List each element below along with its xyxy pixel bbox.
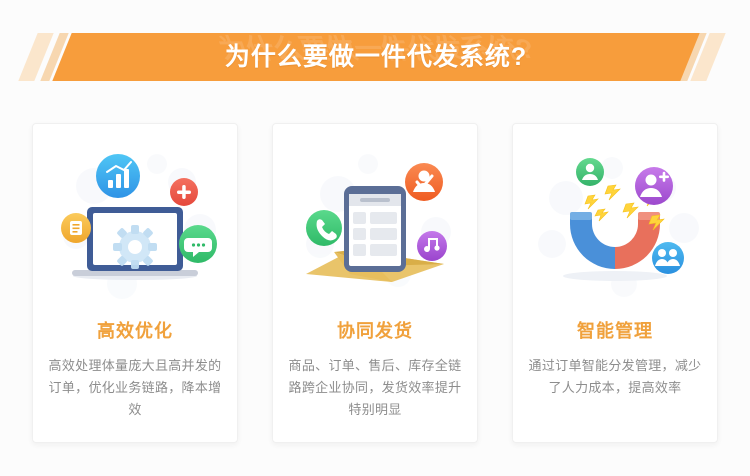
- banner-title: 为什么要做一件代发系统?: [225, 33, 527, 81]
- banner-parallelogram: 为什么要做一件代发系统? 为什么要做一件代发系统?: [52, 33, 699, 81]
- document-badge-icon: [61, 213, 91, 243]
- phone-call-badge-icon: [306, 210, 342, 246]
- user-badge-icon: [576, 158, 604, 186]
- user-group-badge-icon: [652, 242, 684, 274]
- card-description: 通过订单智能分发管理，减少了人力成本，提高效率: [525, 355, 705, 399]
- plus-badge-icon: [170, 178, 198, 206]
- card-description: 商品、订单、售后、库存全链路跨企业协同，发货效率提升特别明显: [285, 355, 465, 421]
- feature-card-collaboration[interactable]: 协同发货 商品、订单、售后、库存全链路跨企业协同，发货效率提升特别明显: [272, 123, 478, 443]
- music-note-badge-icon: [417, 231, 447, 261]
- phone-paperplane-illustration: [272, 124, 478, 309]
- magnet-users-illustration: [512, 124, 718, 309]
- feature-card-efficiency[interactable]: 高效优化 高效处理体量庞大且高并发的订单，优化业务链路，降本增效: [32, 123, 238, 443]
- card-description: 高效处理体量庞大且高并发的订单，优化业务链路，降本增效: [45, 355, 225, 421]
- card-title: 协同发货: [337, 317, 413, 343]
- feature-card-row: 高效优化 高效处理体量庞大且高并发的订单，优化业务链路，降本增效: [32, 123, 718, 443]
- chat-bubble-badge-icon: [179, 225, 217, 263]
- bar-chart-badge-icon: [96, 154, 140, 198]
- card-title: 高效优化: [97, 317, 173, 343]
- header-banner: 为什么要做一件代发系统? 为什么要做一件代发系统?: [0, 33, 750, 81]
- feature-card-management[interactable]: 智能管理 通过订单智能分发管理，减少了人力成本，提高效率: [512, 123, 718, 443]
- check-person-badge-icon: [405, 163, 443, 201]
- laptop-gear-illustration: [32, 124, 238, 309]
- add-user-badge-icon: [635, 167, 673, 205]
- card-title: 智能管理: [577, 317, 653, 343]
